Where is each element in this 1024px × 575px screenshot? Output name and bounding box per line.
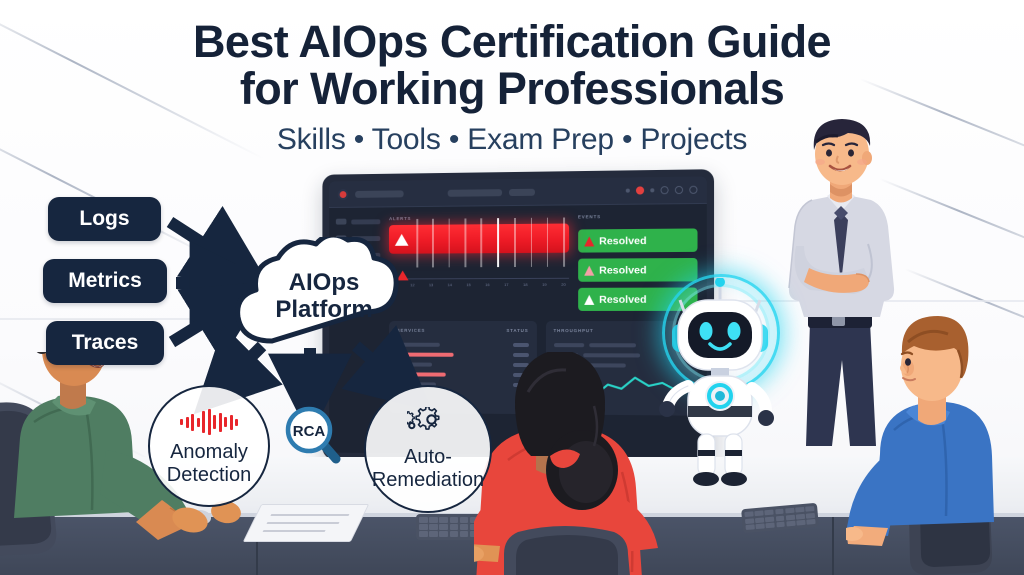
gears-icon	[407, 407, 449, 442]
header-block: Best AIOps Certification Guide for Worki…	[0, 18, 1024, 156]
source-chip-label: Traces	[72, 331, 139, 355]
status-badge-label: Resolved	[599, 264, 646, 276]
desk-seam	[832, 517, 834, 575]
page-subtitle: Skills • Tools • Exam Prep • Projects	[0, 124, 1024, 156]
status-badge-label: Resolved	[599, 293, 646, 305]
dashboard-titlebar	[329, 176, 707, 208]
throughput-panel-label: THROUGHPUT	[553, 328, 593, 333]
rca-label: RCA	[293, 423, 326, 440]
status-badge[interactable]: Resolved	[578, 228, 698, 252]
axis-tick: 14	[448, 282, 452, 287]
axis-tick: 18	[523, 282, 527, 287]
page-title-line2: for Working Professionals	[0, 65, 1024, 112]
axis-tick: 15	[466, 282, 470, 287]
outcome-rca[interactable]: RCA	[283, 404, 343, 464]
axis-tick: 13	[429, 282, 433, 287]
aiops-platform-node[interactable]: AIOps Platform	[224, 237, 424, 354]
services-panel-meta: STATUS	[506, 328, 528, 333]
arrow-logs-to-platform	[170, 222, 232, 262]
source-chip-traces[interactable]: Traces	[46, 321, 164, 365]
dashboard-window-controls[interactable]	[626, 186, 698, 195]
paper-sheet[interactable]	[243, 504, 370, 542]
events-panel-label: EVENTS	[578, 213, 698, 219]
outcome-auto-remediation[interactable]: Auto- Remediation	[364, 385, 492, 513]
source-chip-logs[interactable]: Logs	[48, 197, 161, 241]
seated-man-blue-shirt	[846, 308, 1024, 575]
platform-line1: AIOps	[289, 269, 360, 296]
waveform-icon	[180, 409, 238, 435]
source-chip-metrics[interactable]: Metrics	[43, 259, 167, 303]
outcome-label-line1: Anomaly	[164, 441, 254, 464]
outcome-label-line2: Remediation	[366, 469, 490, 492]
axis-tick: 16	[485, 282, 489, 287]
platform-line2: Platform	[275, 296, 372, 323]
axis-tick: 17	[504, 282, 508, 287]
warning-triangle-icon	[584, 265, 594, 275]
axis-tick: 20	[561, 282, 565, 287]
infographic-canvas: Best AIOps Certification Guide for Worki…	[0, 0, 1024, 575]
axis-tick: 19	[542, 282, 546, 287]
warning-triangle-icon	[584, 236, 594, 246]
aiops-platform-label: AIOps Platform	[224, 237, 424, 349]
page-title-line1: Best AIOps Certification Guide	[0, 18, 1024, 65]
status-badge-label: Resolved	[599, 234, 646, 246]
source-chip-label: Logs	[79, 207, 129, 231]
outcome-anomaly-detection[interactable]: Anomaly Detection	[148, 385, 270, 507]
warning-triangle-icon	[584, 294, 594, 304]
outcome-label-line2: Detection	[161, 464, 258, 487]
alert-ticks	[416, 218, 564, 268]
record-dot-icon	[338, 189, 349, 200]
source-chip-label: Metrics	[68, 269, 142, 293]
seated-woman-red-top	[474, 352, 724, 575]
outcome-label-line1: Auto-	[398, 446, 458, 469]
arrow-traces-to-platform	[172, 305, 232, 342]
